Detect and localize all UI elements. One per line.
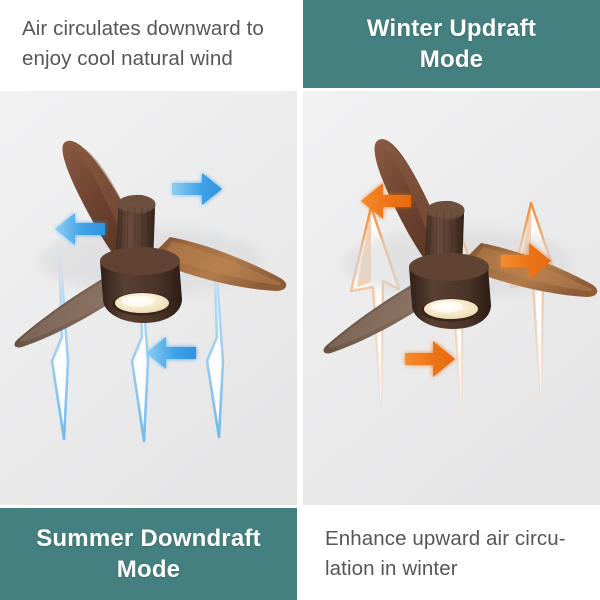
winter-updraft-illustration <box>303 91 600 505</box>
caption-bottom-right-text: Enhance upward air circu-lation in winte… <box>303 524 566 584</box>
title-winter-updraft-mode-text: Winter UpdraftMode <box>367 13 536 75</box>
caption-top-left-text: Air circulates downward toenjoy cool nat… <box>0 14 264 74</box>
infographic-board: Air circulates downward toenjoy cool nat… <box>0 0 600 600</box>
title-winter-updraft-mode: Winter UpdraftMode <box>303 0 600 88</box>
title-summer-downdraft-mode-text: Summer DowndraftMode <box>36 523 261 585</box>
caption-top-left: Air circulates downward toenjoy cool nat… <box>0 0 297 88</box>
summer-downdraft-illustration <box>0 91 297 505</box>
caption-bottom-right: Enhance upward air circu-lation in winte… <box>303 508 600 600</box>
summer-fan-scene <box>0 91 297 505</box>
winter-fan-scene <box>303 91 600 505</box>
title-summer-downdraft-mode: Summer DowndraftMode <box>0 508 297 600</box>
